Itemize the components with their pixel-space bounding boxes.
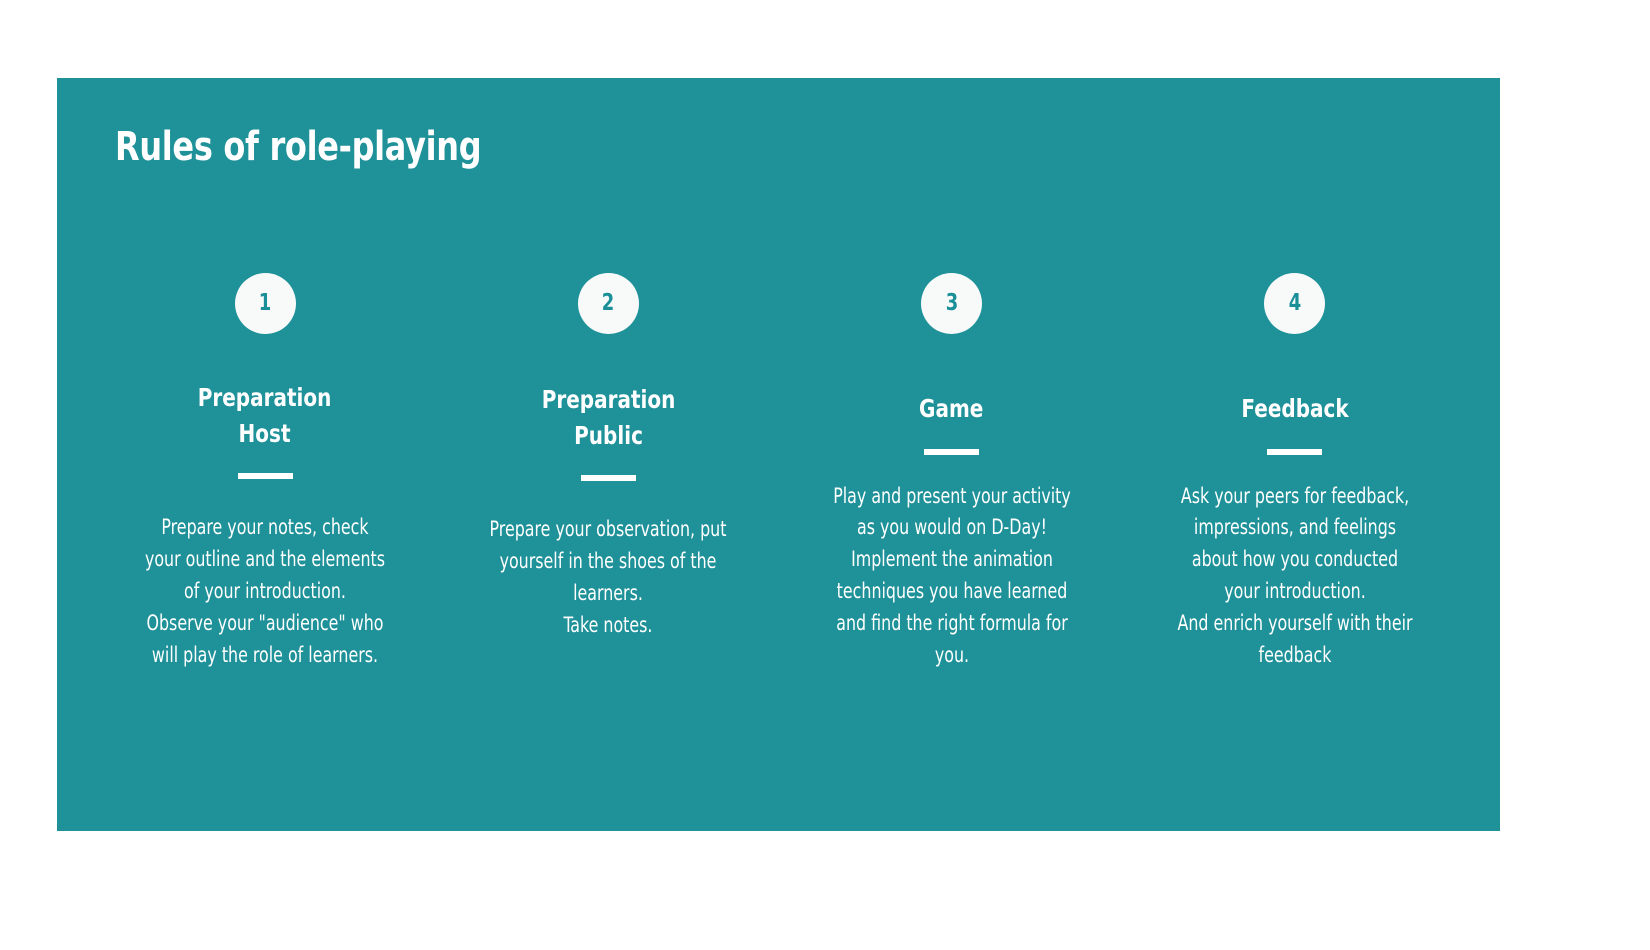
step-number-badge-4: 4	[1264, 273, 1325, 334]
step-body-2: Prepare your observation, put yourself i…	[487, 514, 731, 642]
step-heading-1: Preparation Host	[198, 380, 332, 451]
step-column-3: 3 Game Play and present your activity as…	[802, 273, 1102, 672]
step-number-label-4: 4	[1289, 292, 1301, 315]
step-column-1: 1 Preparation Host Prepare your notes, c…	[115, 273, 415, 672]
step-number-label-2: 2	[602, 292, 614, 315]
slide-panel: Rules of role-playing 1 Preparation Host…	[57, 78, 1500, 831]
page-title: Rules of role-playing	[115, 126, 481, 168]
steps-row: 1 Preparation Host Prepare your notes, c…	[115, 273, 1445, 672]
step-divider-2	[581, 475, 636, 481]
step-number-label-3: 3	[945, 292, 957, 315]
step-body-3: Play and present your activity as you wo…	[830, 481, 1074, 672]
step-column-4: 4 Feedback Ask your peers for feedback, …	[1145, 273, 1445, 672]
step-body-1: Prepare your notes, check your outline a…	[143, 512, 387, 672]
step-divider-1	[238, 473, 293, 479]
step-body-4: Ask your peers for feedback, impressions…	[1173, 481, 1417, 672]
step-divider-4	[1267, 449, 1322, 455]
step-heading-3: Game	[919, 391, 983, 427]
slide-canvas: Rules of role-playing 1 Preparation Host…	[0, 0, 1650, 950]
step-number-label-1: 1	[259, 292, 271, 315]
step-number-badge-1: 1	[235, 273, 296, 334]
step-column-2: 2 Preparation Public Prepare your observ…	[458, 273, 758, 642]
step-number-badge-3: 3	[921, 273, 982, 334]
step-number-badge-2: 2	[578, 273, 639, 334]
step-heading-2: Preparation Public	[541, 382, 675, 453]
step-heading-4: Feedback	[1241, 391, 1348, 427]
step-divider-3	[924, 449, 979, 455]
